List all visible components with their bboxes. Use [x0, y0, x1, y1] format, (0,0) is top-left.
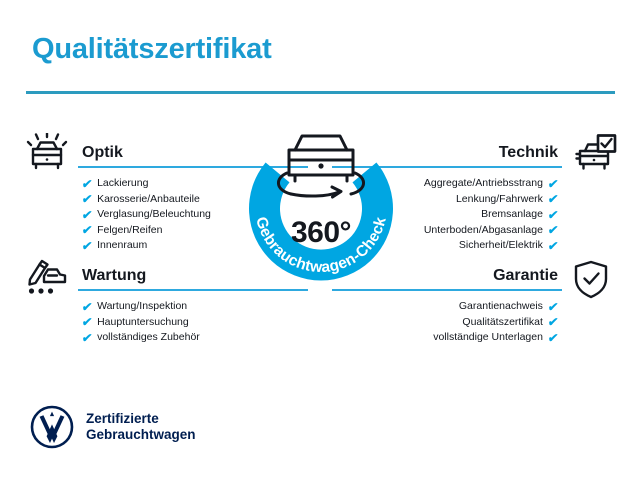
car-checkbox-icon: [572, 133, 618, 175]
list-item-label: Innenraum: [97, 238, 147, 254]
check-icon: ✔: [81, 301, 93, 313]
vw-wordmark-line2: Gebrauchtwagen: [86, 427, 196, 443]
list-item-label: Hauptuntersuchung: [97, 315, 189, 331]
list-item: Garantienachweis✔: [332, 299, 562, 315]
check-icon: ✔: [81, 240, 93, 252]
list-item-label: Lackierung: [97, 176, 148, 192]
list-item-label: Unterboden/Abgasanlage: [424, 223, 543, 239]
shield-check-icon: [568, 259, 614, 301]
vw-logo: [30, 405, 74, 449]
list-item: ✔Hauptuntersuchung: [78, 315, 308, 331]
list-item-label: Lenkung/Fahrwerk: [456, 192, 543, 208]
list-item-label: Wartung/Inspektion: [97, 299, 187, 315]
check-icon: ✔: [547, 193, 559, 205]
list-item: ✔Wartung/Inspektion: [78, 299, 308, 315]
check-icon: ✔: [81, 193, 93, 205]
list-item-label: Karosserie/Anbauteile: [97, 192, 200, 208]
check-icon: ✔: [547, 224, 559, 236]
list-item-label: Felgen/Reifen: [97, 223, 162, 239]
check-icon: ✔: [547, 301, 559, 313]
title-divider: [26, 91, 615, 94]
check-icon: ✔: [81, 209, 93, 221]
list-item-label: Verglasung/Beleuchtung: [97, 207, 211, 223]
check-icon: ✔: [81, 316, 93, 328]
check-icon: ✔: [81, 332, 93, 344]
list-item: ✔vollständiges Zubehör: [78, 330, 308, 346]
check-icon: ✔: [547, 316, 559, 328]
pen-car-service-icon: [24, 257, 70, 299]
car-shine-icon: [24, 133, 70, 175]
vw-wordmark: Zertifizierte Gebrauchtwagen: [86, 411, 196, 443]
vw-wordmark-line1: Zertifizierte: [86, 411, 196, 427]
list-item-label: Sicherheit/Elektrik: [459, 238, 543, 254]
list-item-label: Garantienachweis: [459, 299, 543, 315]
footer-branding: Zertifizierte Gebrauchtwagen: [30, 405, 196, 449]
check-icon: ✔: [81, 178, 93, 190]
list-item: vollständige Unterlagen✔: [332, 330, 562, 346]
section-list-garantie: Garantienachweis✔ Qualitätszertifikat✔ v…: [332, 299, 562, 346]
list-item-label: Aggregate/Antriebsstrang: [424, 176, 543, 192]
list-item-label: Bremsanlage: [481, 207, 543, 223]
list-item-label: vollständiges Zubehör: [97, 330, 200, 346]
list-item-label: Qualitätszertifikat: [462, 315, 543, 331]
badge-360-gebrauchtwagen-check: Gebrauchtwagen-Check 360°: [235, 120, 407, 292]
section-list-wartung: ✔Wartung/Inspektion ✔Hauptuntersuchung ✔…: [78, 299, 308, 346]
check-icon: ✔: [81, 224, 93, 236]
car-rotation-icon: [278, 136, 363, 197]
certificate-page: Qualitätszertifikat Optik ✔Lackierung ✔K…: [0, 0, 640, 480]
check-icon: ✔: [547, 209, 559, 221]
list-item: Qualitätszertifikat✔: [332, 315, 562, 331]
check-icon: ✔: [547, 240, 559, 252]
check-icon: ✔: [547, 332, 559, 344]
page-title: Qualitätszertifikat: [32, 33, 272, 66]
list-item-label: vollständige Unterlagen: [433, 330, 543, 346]
check-icon: ✔: [547, 178, 559, 190]
